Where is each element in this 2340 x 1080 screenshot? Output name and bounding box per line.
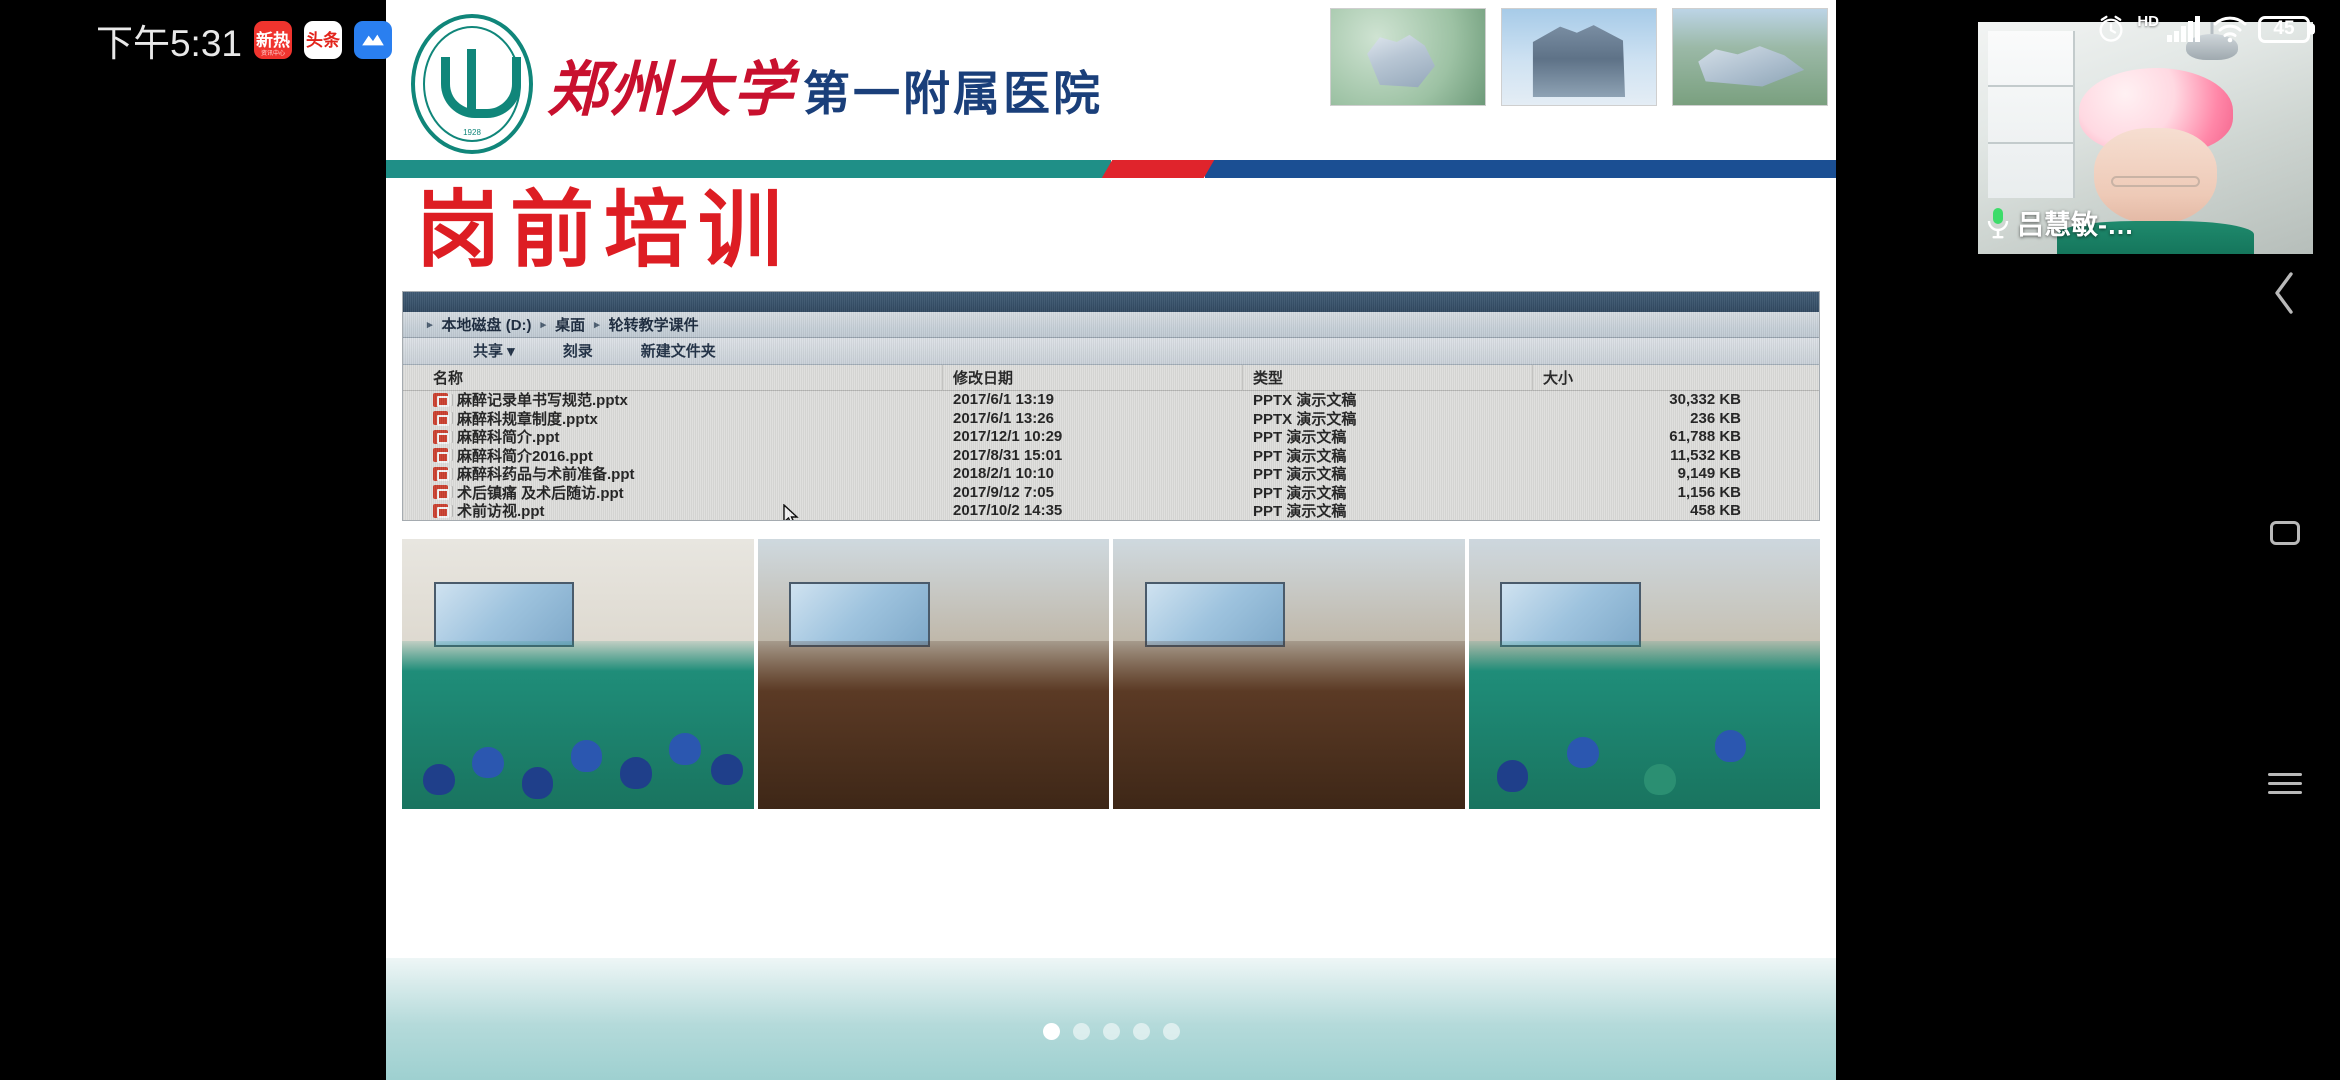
news-hot-app-label: 新热 <box>256 32 290 49</box>
breadcrumb-segment-desktop[interactable]: 桌面 <box>555 314 585 335</box>
file-type-cell: PPT 演示文稿 <box>1243 500 1533 520</box>
pagination-dot[interactable] <box>1103 1023 1120 1040</box>
file-type-cell: PPTX 演示文稿 <box>1243 519 1533 521</box>
file-name-cell[interactable]: 术中监护、异常情况判断及处理.pptx <box>403 519 943 521</box>
presentation-slide[interactable]: 1928 郑州大学 第一附属医院 岗前培训 ▸ <box>386 0 1836 1080</box>
explorer-title-bar <box>403 292 1819 312</box>
photo3-projection-screen <box>1145 582 1286 647</box>
slide-footer <box>386 958 1836 1080</box>
pagination-dot[interactable] <box>1163 1023 1180 1040</box>
file-size-cell: 11,532 KB <box>1533 447 1819 464</box>
photo4-projection-screen <box>1500 582 1641 647</box>
share-button[interactable]: 共享 ▾ <box>473 340 515 361</box>
pip-window-frame <box>1988 31 2075 198</box>
toutiao-app-label: 头条 <box>306 32 340 49</box>
column-header-name[interactable]: 名称 <box>403 365 943 390</box>
hospital-district-aerial-photo <box>1672 8 1828 106</box>
hospital-department-name: 第一附属医院 <box>803 55 1103 124</box>
status-bar-left: 下午5:31 新热 资讯中心 头条 <box>0 0 400 80</box>
pip-glasses <box>2111 176 2200 187</box>
explorer-toolbar: 共享 ▾ 刻录 新建文件夹 <box>403 338 1819 365</box>
file-date-cell: 2017/6/1 13:19 <box>943 391 1243 408</box>
training-classroom-photo-3 <box>1113 539 1465 809</box>
column-header-type[interactable]: 类型 <box>1243 365 1533 390</box>
hospital-tower-building-photo <box>1501 8 1657 106</box>
decorative-band <box>386 160 1836 178</box>
logo-mark-icon <box>441 49 503 119</box>
slide-title: 岗前培训 <box>386 178 1836 287</box>
breadcrumb-chevron-icon: ▸ <box>427 318 433 331</box>
file-row[interactable]: 麻醉科药品与术前准备.ppt2018/2/1 10:10PPT 演示文稿9,14… <box>403 465 1819 484</box>
back-button[interactable] <box>2257 265 2313 321</box>
powerpoint-file-icon <box>433 448 448 462</box>
burn-button[interactable]: 刻录 <box>563 340 593 361</box>
file-date-cell: 2017/6/1 13:26 <box>943 410 1243 427</box>
wifi-icon <box>2213 15 2247 43</box>
file-date-cell: 2017/8/31 15:01 <box>943 447 1243 464</box>
file-explorer-screenshot: ▸ 本地磁盘 (D:) ▸ 桌面 ▸ 轮转教学课件 共享 ▾ 刻录 新建文件夹 … <box>402 291 1820 521</box>
header-photo-gallery <box>1330 8 1828 106</box>
phone-screen: 下午5:31 新热 资讯中心 头条 1928 郑州大学 第一附属医院 <box>0 0 2340 1080</box>
pagination-dot[interactable] <box>1043 1023 1060 1040</box>
breadcrumb-segment-drive[interactable]: 本地磁盘 (D:) <box>442 314 532 335</box>
column-header-date[interactable]: 修改日期 <box>943 365 1243 390</box>
status-bar-right: HD 45 <box>2096 14 2310 44</box>
explorer-file-list: 麻醉记录单书写规范.pptx2017/6/1 13:19PPTX 演示文稿30,… <box>403 391 1819 521</box>
file-size-cell: 236 KB <box>1533 410 1819 427</box>
mountain-glyph-icon <box>360 27 386 53</box>
training-lecture-photo-4 <box>1469 539 1821 809</box>
file-size-cell: 1,156 KB <box>1533 484 1819 501</box>
pagination-dot[interactable] <box>1133 1023 1150 1040</box>
mouse-cursor-icon <box>783 504 800 521</box>
logo-year: 1928 <box>415 128 529 137</box>
hospital-name: 郑州大学 第一附属医院 <box>547 41 1103 128</box>
new-folder-button[interactable]: 新建文件夹 <box>641 340 716 361</box>
explorer-breadcrumb[interactable]: ▸ 本地磁盘 (D:) ▸ 桌面 ▸ 轮转教学课件 <box>403 312 1819 338</box>
alarm-clock-icon <box>2096 14 2126 44</box>
powerpoint-file-icon <box>433 411 448 425</box>
news-hot-app-sublabel: 资讯中心 <box>254 48 292 57</box>
square-icon <box>2270 521 2300 545</box>
hospital-campus-aerial-photo <box>1330 8 1486 106</box>
battery-icon: 45 <box>2258 16 2310 43</box>
photo3-seating <box>1113 641 1465 808</box>
breadcrumb-chevron-icon: ▸ <box>594 318 600 331</box>
explorer-column-headers: 名称 修改日期 类型 大小 <box>403 365 1819 391</box>
powerpoint-file-icon <box>433 504 448 518</box>
column-header-size[interactable]: 大小 <box>1533 365 1819 390</box>
hd-label: HD <box>2137 14 2159 29</box>
file-date-cell: 2018/2/1 10:10 <box>943 465 1243 482</box>
breadcrumb-chevron-icon: ▸ <box>541 318 547 331</box>
photo2-seating <box>758 641 1110 808</box>
hamburger-menu-icon <box>2268 773 2302 794</box>
band-red-accent <box>1102 160 1214 178</box>
photo1-heads <box>402 641 754 808</box>
photo2-projection-screen <box>789 582 930 647</box>
menu-button[interactable] <box>2257 755 2313 811</box>
file-row[interactable]: 术前访视.ppt2017/10/2 14:35PPT 演示文稿458 KB <box>403 502 1819 521</box>
file-name-cell[interactable]: 术前访视.ppt <box>403 500 943 520</box>
training-classroom-photo-2 <box>758 539 1110 809</box>
file-row[interactable]: 麻醉记录单书写规范.pptx2017/6/1 13:19PPTX 演示文稿30,… <box>403 391 1819 410</box>
file-size-cell: 30,332 KB <box>1533 391 1819 408</box>
photo1-projection-screen <box>434 582 575 647</box>
university-name: 郑州大学 <box>547 41 795 128</box>
band-teal-segment <box>386 160 1111 178</box>
hospital-branding: 1928 郑州大学 第一附属医院 <box>411 14 1103 154</box>
file-row[interactable]: 术后镇痛 及术后随访.ppt2017/9/12 7:05PPT 演示文稿1,15… <box>403 483 1819 502</box>
home-button[interactable] <box>2257 505 2313 561</box>
toutiao-app-icon[interactable]: 头条 <box>304 21 342 59</box>
status-clock: 下午5:31 <box>96 13 242 67</box>
file-name-text: 术中监护、异常情况判断及处理.pptx <box>457 519 703 521</box>
training-photo-strip <box>402 539 1820 809</box>
file-size-cell: 458 KB <box>1533 502 1819 519</box>
band-blue-segment <box>1205 160 1837 178</box>
blue-app-icon[interactable] <box>354 21 392 59</box>
hospital-logo-icon: 1928 <box>411 14 533 154</box>
chevron-left-icon <box>2270 270 2300 316</box>
battery-percent: 45 <box>2273 18 2294 40</box>
powerpoint-file-icon <box>433 485 448 499</box>
pagination-dots[interactable] <box>1043 1023 1180 1040</box>
powerpoint-file-icon <box>433 393 448 407</box>
training-classroom-photo-1 <box>402 539 754 809</box>
pagination-dot[interactable] <box>1073 1023 1090 1040</box>
slide-header: 1928 郑州大学 第一附属医院 <box>386 0 1836 160</box>
file-row[interactable]: 麻醉科简介2016.ppt2017/8/31 15:01PPT 演示文稿11,5… <box>403 446 1819 465</box>
news-hot-app-icon[interactable]: 新热 资讯中心 <box>254 21 292 59</box>
signal-bars-icon <box>2166 15 2202 43</box>
file-row[interactable]: 麻醉科规章制度.pptx2017/6/1 13:26PPTX 演示文稿236 K… <box>403 409 1819 428</box>
file-date-cell: 2017/9/12 7:05 <box>943 484 1243 501</box>
file-row[interactable]: 术中监护、异常情况判断及处理.pptx2017/6/1 13:20PPTX 演示… <box>403 520 1819 521</box>
photo4-heads <box>1469 641 1821 808</box>
microphone-icon[interactable] <box>1986 207 2010 239</box>
video-pip-window[interactable]: 吕慧敏-… <box>1978 22 2313 254</box>
file-date-cell: 2017/10/2 14:35 <box>943 502 1243 519</box>
file-size-cell: 61,788 KB <box>1533 428 1819 445</box>
powerpoint-file-icon <box>433 467 448 481</box>
powerpoint-file-icon <box>433 430 448 444</box>
breadcrumb-segment-folder[interactable]: 轮转教学课件 <box>609 314 699 335</box>
file-row[interactable]: 麻醉科简介.ppt2017/12/1 10:29PPT 演示文稿61,788 K… <box>403 428 1819 447</box>
file-name-text: 术前访视.ppt <box>457 500 545 520</box>
pip-name-bar: 吕慧敏-… <box>1978 203 2134 242</box>
file-date-cell: 2017/12/1 10:29 <box>943 428 1243 445</box>
pip-participant-name: 吕慧敏-… <box>2017 203 2134 242</box>
file-size-cell: 9,149 KB <box>1533 465 1819 482</box>
